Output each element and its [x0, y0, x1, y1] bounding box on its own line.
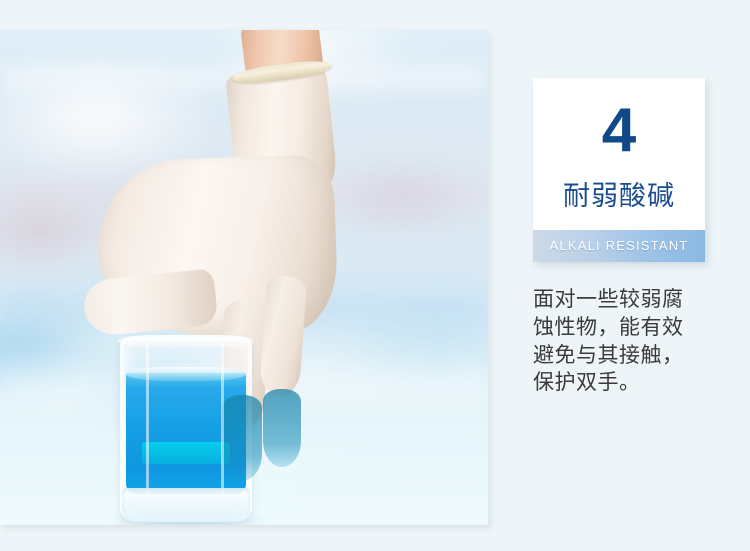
description-line-1: 面对一些较弱腐: [533, 286, 711, 314]
beaker-thick-base: [122, 488, 250, 522]
beaker-rim: [118, 335, 254, 347]
feature-description: 面对一些较弱腐 蚀性物，能有效 避免与其接触， 保护双手。: [533, 286, 711, 398]
description-line-2: 蚀性物，能有效: [533, 314, 711, 342]
description-line-4: 保护双手。: [533, 369, 711, 397]
submerged-finger-index: [222, 395, 262, 481]
beaker-facet-left: [146, 343, 149, 496]
feature-info-panel: 4 耐弱酸碱 ALKALI RESISTANT 面对一些较弱腐 蚀性物，能有效 …: [533, 78, 705, 397]
description-line-3: 避免与其接触，: [533, 342, 711, 370]
feature-card-top: 4 耐弱酸碱: [533, 78, 705, 230]
product-feature-slide: 4 耐弱酸碱 ALKALI RESISTANT 面对一些较弱腐 蚀性物，能有效 …: [0, 0, 750, 551]
submerged-finger-middle: [263, 389, 301, 467]
liquid-surface: [126, 367, 246, 381]
feature-headline: 耐弱酸碱: [533, 182, 705, 212]
feature-card: 4 耐弱酸碱 ALKALI RESISTANT: [533, 78, 705, 262]
feature-banner-label: ALKALI RESISTANT: [550, 238, 689, 253]
feature-banner: ALKALI RESISTANT: [533, 230, 705, 262]
beaker-facet-right: [221, 343, 224, 496]
liquid-base-reflection: [142, 442, 230, 464]
feature-number: 4: [533, 100, 705, 162]
beaker-icon: [120, 337, 252, 522]
product-photo: [0, 30, 488, 525]
